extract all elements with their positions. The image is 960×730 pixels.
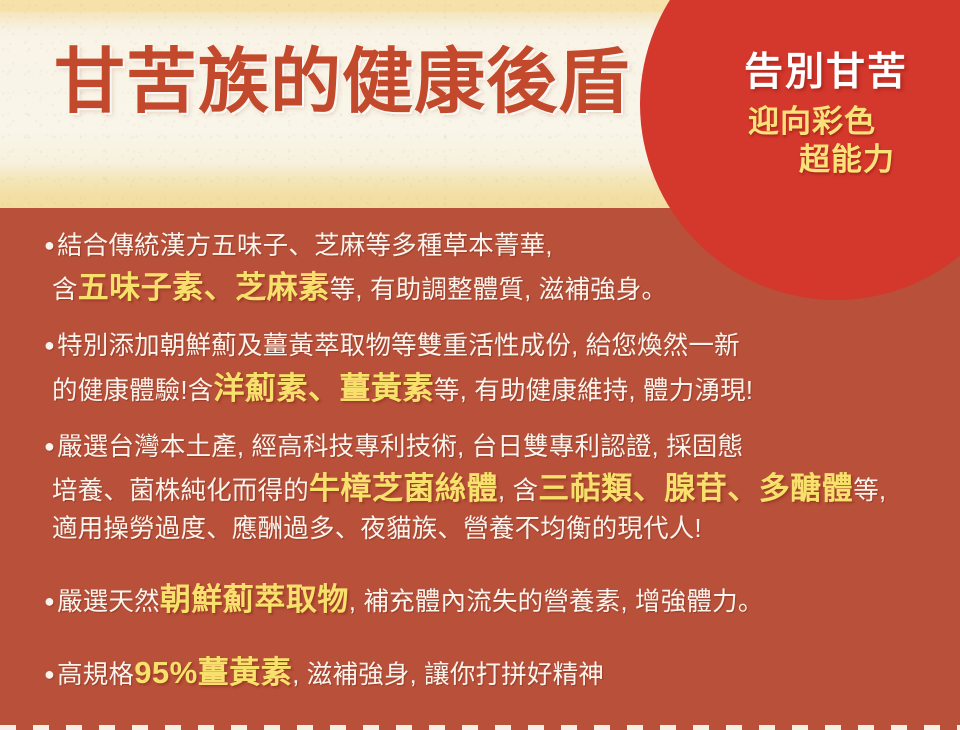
badge-text-group: 告別甘苦 迎向彩色 超能力 bbox=[700, 52, 952, 179]
bullet-text: 的健康體驗!含 bbox=[52, 377, 214, 405]
feature-bullet: ●嚴選台灣本土產, 經高科技專利技術, 台日雙專利認證, 採固態培養、菌株純化而… bbox=[44, 429, 924, 549]
bullet-line: 的健康體驗!含洋薊素、薑黃素等, 有助健康維持, 體力湧現! bbox=[44, 366, 924, 411]
highlighted-ingredient: 洋薊素、薑黃素 bbox=[214, 371, 435, 406]
bullet-line: ●嚴選天然朝鮮薊萃取物, 補充體內流失的營養素, 增強體力。 bbox=[44, 577, 924, 622]
bullet-dot-icon: ● bbox=[44, 332, 55, 358]
bullet-dot-icon: ● bbox=[44, 661, 55, 687]
feature-bullet-list: ●結合傳統漢方五味子、芝麻等多種草本菁華,含五味子素、芝麻素等, 有助調整體質,… bbox=[44, 228, 924, 723]
highlighted-ingredient: 三萜類、腺苷、多醣體 bbox=[538, 471, 853, 506]
bullet-text: , 補充體內流失的營養素, 增強體力。 bbox=[349, 588, 764, 616]
bullet-text: 等, bbox=[853, 477, 886, 505]
highlighted-ingredient: 95%薑黃素 bbox=[134, 655, 292, 690]
bullet-text: 嚴選台灣本土產, 經高科技專利技術, 台日雙專利認證, 採固態 bbox=[57, 433, 743, 461]
bullet-line: 含五味子素、芝麻素等, 有助調整體質, 滋補強身。 bbox=[44, 265, 924, 310]
bullet-dot-icon: ● bbox=[44, 588, 55, 614]
bullet-text: 高規格 bbox=[57, 661, 134, 689]
bullet-line: ●結合傳統漢方五味子、芝麻等多種草本菁華, bbox=[44, 228, 924, 265]
highlighted-ingredient: 五味子素、芝麻素 bbox=[78, 270, 330, 305]
feature-bullet: ●特別添加朝鮮薊及薑黃萃取物等雙重活性成份, 給您煥然一新的健康體驗!含洋薊素、… bbox=[44, 328, 924, 410]
bullet-text: 培養、菌株純化而得的 bbox=[52, 477, 309, 505]
feature-bullet: ●嚴選天然朝鮮薊萃取物, 補充體內流失的營養素, 增強體力。 bbox=[44, 577, 924, 622]
promo-poster: 甘苦族的健康後盾 告別甘苦 迎向彩色 超能力 ●結合傳統漢方五味子、芝麻等多種草… bbox=[0, 0, 960, 730]
page-title: 甘苦族的健康後盾 bbox=[54, 47, 630, 118]
feature-bullet: ●結合傳統漢方五味子、芝麻等多種草本菁華,含五味子素、芝麻素等, 有助調整體質,… bbox=[44, 228, 924, 310]
badge-subline-2: 超能力 bbox=[700, 141, 952, 179]
bullet-line: ●高規格95%薑黃素, 滋補強身, 讓你打拼好精神 bbox=[44, 650, 924, 695]
badge-headline: 告別甘苦 bbox=[700, 52, 952, 95]
highlighted-ingredient: 牛樟芝菌絲體 bbox=[309, 471, 498, 506]
bullet-line: 適用操勞過度、應酬過多、夜貓族、營養不均衡的現代人! bbox=[44, 511, 924, 548]
perforated-edge bbox=[0, 725, 960, 730]
bullet-text: 適用操勞過度、應酬過多、夜貓族、營養不均衡的現代人! bbox=[52, 515, 702, 543]
bullet-line: ●嚴選台灣本土產, 經高科技專利技術, 台日雙專利認證, 採固態 bbox=[44, 429, 924, 466]
bullet-text: 等, 有助健康維持, 體力湧現! bbox=[434, 377, 753, 405]
bullet-line: 培養、菌株純化而得的牛樟芝菌絲體, 含三萜類、腺苷、多醣體等, bbox=[44, 466, 924, 511]
feature-bullet: ●高規格95%薑黃素, 滋補強身, 讓你打拼好精神 bbox=[44, 650, 924, 695]
bullet-text: 結合傳統漢方五味子、芝麻等多種草本菁華, bbox=[57, 232, 553, 260]
bullet-line: ●特別添加朝鮮薊及薑黃萃取物等雙重活性成份, 給您煥然一新 bbox=[44, 328, 924, 365]
bullet-text: 特別添加朝鮮薊及薑黃萃取物等雙重活性成份, 給您煥然一新 bbox=[57, 332, 740, 360]
bullet-text: 等, 有助調整體質, 滋補強身。 bbox=[330, 276, 668, 304]
bullet-text: , 滋補強身, 讓你打拼好精神 bbox=[292, 661, 604, 689]
bullet-text: 含 bbox=[52, 276, 78, 304]
bullet-dot-icon: ● bbox=[44, 232, 55, 258]
badge-subline-1: 迎向彩色 bbox=[700, 103, 952, 141]
highlighted-ingredient: 朝鮮薊萃取物 bbox=[160, 582, 349, 617]
bullet-text: , 含 bbox=[498, 477, 538, 505]
bullet-dot-icon: ● bbox=[44, 433, 55, 459]
bullet-text: 嚴選天然 bbox=[57, 588, 160, 616]
